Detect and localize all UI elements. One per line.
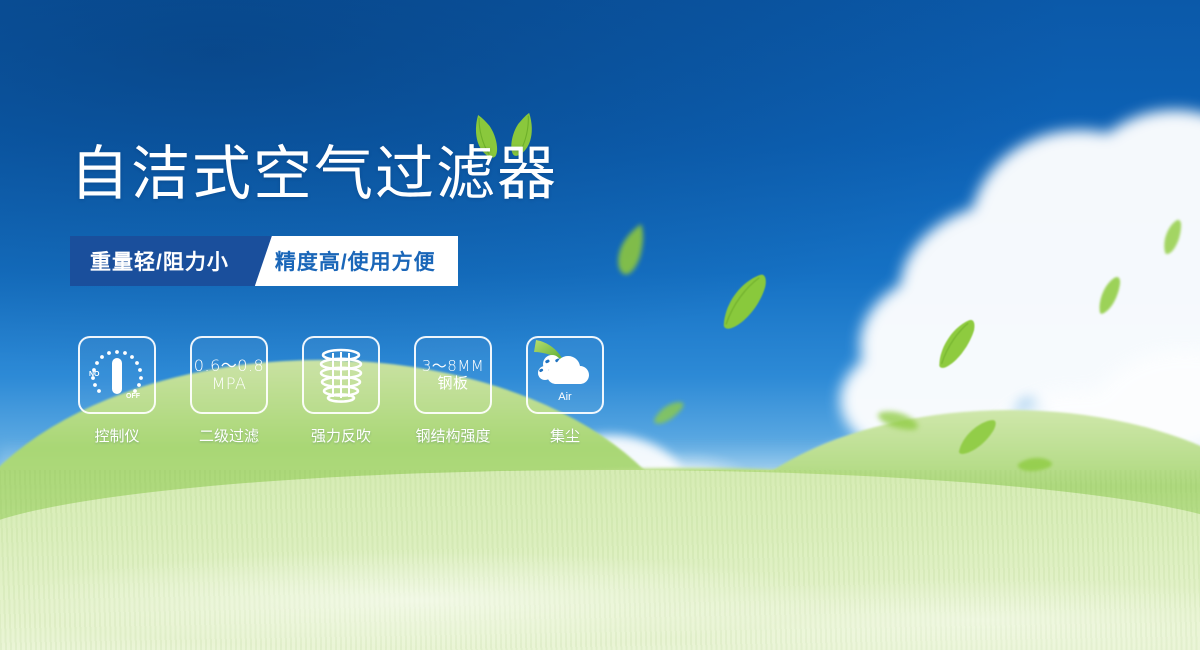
feature-icon-box: NO OFF: [78, 336, 156, 414]
feature-label: 钢结构强度: [415, 425, 490, 446]
page-title: 自洁式空气过滤器: [70, 144, 558, 203]
steel-plate-text-icon: 3〜8MM 钢板: [422, 358, 484, 392]
air-cloud-icon: Air: [528, 338, 602, 412]
feature-label: 强力反吹: [311, 425, 371, 446]
filter-cartridge-icon: [314, 347, 368, 403]
air-label: Air: [558, 391, 572, 403]
banner-stage: 自洁式空气过滤器 重量轻/阻力小 精度高/使用方便: [0, 0, 1200, 650]
feature-icon-box: [302, 336, 380, 414]
feature-item[interactable]: Air 集尘: [526, 336, 604, 446]
feature-item[interactable]: NO OFF 控制仪: [78, 336, 156, 446]
banner-content: 自洁式空气过滤器 重量轻/阻力小 精度高/使用方便: [0, 0, 1200, 650]
feature-label: 集尘: [550, 425, 580, 446]
pressure-text-icon: 0.6〜0.8 MPA: [194, 357, 264, 393]
feature-label: 控制仪: [94, 425, 139, 446]
gauge-mark-no: NO: [89, 371, 100, 378]
steel-material: 钢板: [422, 375, 484, 392]
feature-item[interactable]: 强力反吹: [302, 336, 380, 446]
feature-label: 二级过滤: [199, 425, 259, 446]
feature-item[interactable]: 0.6〜0.8 MPA 二级过滤: [190, 336, 268, 446]
feature-list: NO OFF 控制仪 0.6〜0.8 MPA 二级过滤: [78, 336, 604, 446]
subtitle-tag-right: 精度高/使用方便: [245, 236, 458, 286]
feature-icon-box: 0.6〜0.8 MPA: [190, 336, 268, 414]
feature-item[interactable]: 3〜8MM 钢板 钢结构强度: [414, 336, 492, 446]
feature-icon-box: Air: [526, 336, 604, 414]
subtitle-bar: 重量轻/阻力小 精度高/使用方便: [70, 236, 458, 286]
pressure-value: 0.6〜0.8: [194, 357, 264, 375]
gauge-mark-off: OFF: [126, 393, 141, 400]
pressure-unit: MPA: [194, 375, 264, 393]
steel-thickness: 3〜8MM: [422, 358, 484, 375]
feature-icon-box: 3〜8MM 钢板: [414, 336, 492, 414]
subtitle-tag-left: 重量轻/阻力小: [70, 236, 255, 286]
control-gauge-icon: NO OFF: [86, 346, 148, 404]
